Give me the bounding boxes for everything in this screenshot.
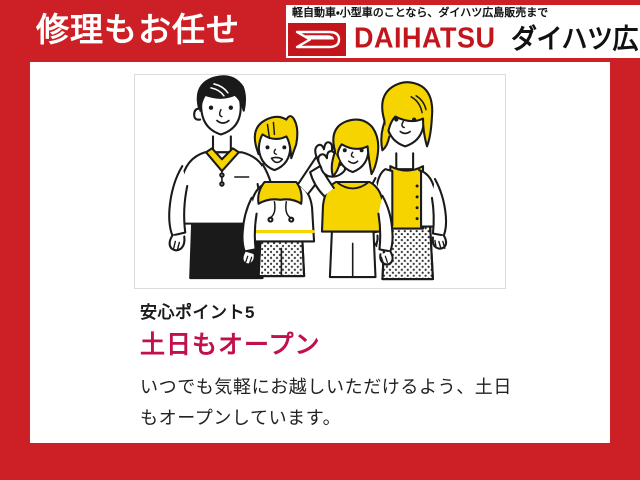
point-label: 安心ポイント5 xyxy=(140,300,560,326)
daihatsu-d-emblem-icon xyxy=(288,23,346,56)
text-content: 安心ポイント5 土日もオープン いつでも気軽にお越しいただけるよう、土日もオープ… xyxy=(140,300,560,434)
figure-mother xyxy=(364,82,446,279)
family-illustration xyxy=(134,74,506,289)
brand-latin-wordmark: DAIHATSU xyxy=(354,21,496,56)
advertisement-banner: 修理もお任せ 軽自動車・小型車のことなら、ダイハツ広島販売まで DAIHATSU… xyxy=(0,0,640,480)
brand-tagline: 軽自動車・小型車のことなら、ダイハツ広島販売まで xyxy=(292,6,548,21)
point-title: 土日もオープン xyxy=(140,328,560,362)
brand-logo-block: 軽自動車・小型車のことなら、ダイハツ広島販売まで DAIHATSU ダイハツ広島… xyxy=(286,5,640,58)
figure-girl xyxy=(310,120,393,278)
content-card: 安心ポイント5 土日もオープン いつでも気軽にお越しいただけるよう、土日もオープ… xyxy=(30,62,610,443)
point-description: いつでも気軽にお越しいただけるよう、土日もオープンしています。 xyxy=(140,372,520,434)
brand-japanese-wordmark: ダイハツ広島販売 xyxy=(511,22,640,57)
brand-logo-row: DAIHATSU ダイハツ広島販売 xyxy=(286,23,640,56)
banner-header: 修理もお任せ 軽自動車・小型車のことなら、ダイハツ広島販売まで DAIHATSU… xyxy=(0,0,640,62)
headline-text: 修理もお任せ xyxy=(36,8,240,52)
